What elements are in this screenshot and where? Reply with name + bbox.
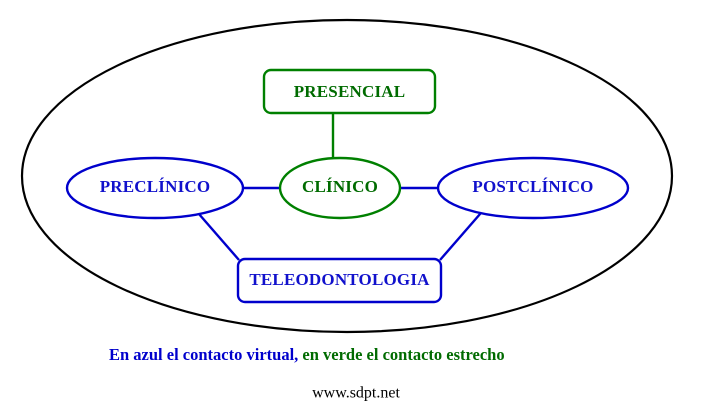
postclinico-label: POSTCLÍNICO	[472, 177, 593, 196]
node-clinico[interactable]: CLÍNICO	[280, 158, 400, 218]
teleodontologia-label: TELEODONTOLOGIA	[249, 270, 430, 289]
presencial-label: PRESENCIAL	[294, 82, 406, 101]
legend-blue-part: En azul el contacto virtual,	[109, 345, 298, 364]
node-teleodontologia[interactable]: TELEODONTOLOGIA	[238, 259, 441, 302]
node-presencial[interactable]: PRESENCIAL	[264, 70, 435, 113]
clinico-label: CLÍNICO	[302, 177, 378, 196]
preclinico-label: PRECLÍNICO	[100, 177, 211, 196]
legend-green-part: en verde el contacto estrecho	[298, 345, 504, 364]
diagram-canvas: PRESENCIAL CLÍNICO PRECLÍNICO POSTCLÍNIC…	[0, 0, 713, 419]
legend-caption: En azul el contacto virtual, en verde el…	[109, 345, 505, 364]
footer-url: www.sdpt.net	[312, 385, 400, 402]
node-preclinico[interactable]: PRECLÍNICO	[67, 158, 243, 218]
diagram-svg: PRESENCIAL CLÍNICO PRECLÍNICO POSTCLÍNIC…	[0, 0, 713, 419]
node-postclinico[interactable]: POSTCLÍNICO	[438, 158, 628, 218]
